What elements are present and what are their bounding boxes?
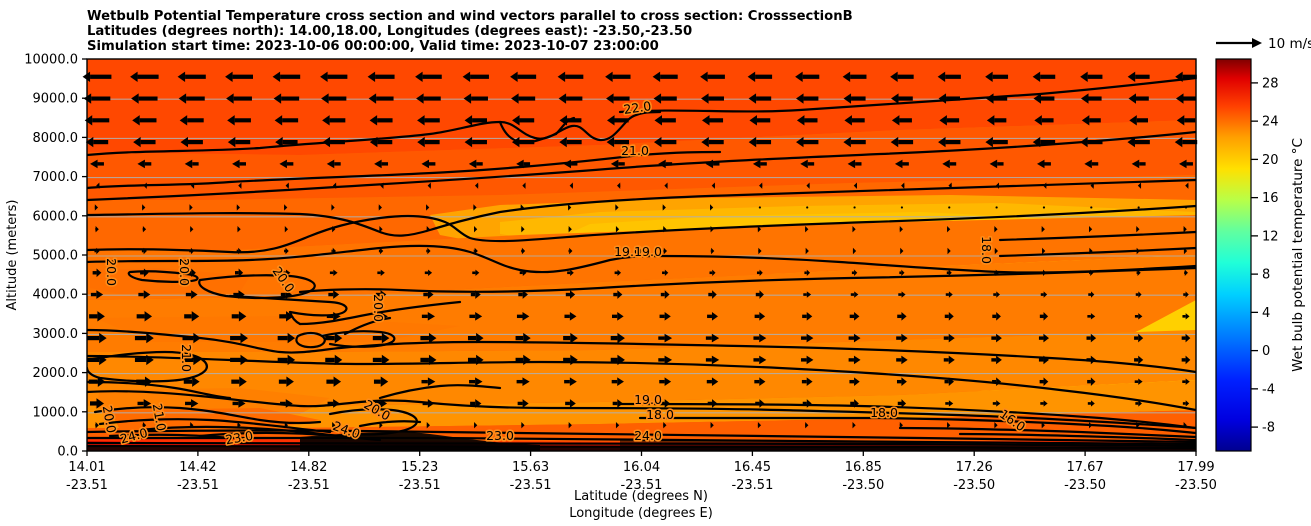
colorbar-tick-label: -8	[1262, 421, 1275, 436]
contour-label: 19.0	[634, 392, 662, 407]
x-tick-label-longitude: -23.51	[288, 478, 330, 493]
quiver-key-label: 10 m/s	[1268, 36, 1311, 52]
x-tick-label-latitude: 16.85	[845, 460, 882, 475]
x-axis-label-longitude: Longitude (degrees E)	[569, 506, 713, 521]
wind-vector-calm	[1185, 206, 1187, 208]
x-tick-label-latitude: 15.63	[512, 460, 549, 475]
wind-vector-calm	[1138, 206, 1140, 208]
y-tick-label: 5000.0	[33, 249, 79, 264]
colorbar-ticks: -8-40481216202428	[1251, 76, 1279, 435]
wind-vector-calm	[901, 206, 903, 208]
wind-vector-calm	[1090, 206, 1092, 208]
x-tick-label-longitude: -23.51	[177, 478, 219, 493]
wind-vector-calm	[996, 206, 998, 208]
x-tick-label-longitude: -23.50	[1175, 478, 1217, 493]
x-tick-label-latitude: 17.67	[1066, 460, 1103, 475]
x-tick-label-longitude: -23.50	[953, 478, 995, 493]
x-tick-label-longitude: -23.51	[510, 478, 552, 493]
x-tick-label-latitude: 16.45	[734, 460, 771, 475]
colorbar-label: Wet bulb potential temperature °C	[1290, 138, 1306, 372]
colorbar-tick-label: 20	[1262, 153, 1279, 168]
wind-vector-calm	[853, 206, 855, 208]
colorbar-tick-label: 16	[1262, 191, 1279, 206]
x-tick-label-latitude: 17.26	[956, 460, 993, 475]
contour-label: 18.0	[646, 407, 674, 422]
colorbar-tick-label: 0	[1262, 344, 1270, 359]
wind-vector-calm	[806, 206, 808, 208]
colorbar[interactable]: -8-40481216202428 Wet bulb potential tem…	[1216, 59, 1306, 451]
x-tick-label-longitude: -23.50	[842, 478, 884, 493]
quiver-key: 10 m/s	[1216, 36, 1311, 52]
x-axis: 14.01-23.5114.42-23.5114.82-23.5115.23-2…	[66, 451, 1217, 493]
contour-label: 21.0	[621, 143, 649, 158]
title-line-3: Simulation start time: 2023-10-06 00:00:…	[87, 39, 659, 54]
x-tick-label-longitude: -23.51	[399, 478, 441, 493]
x-axis-label-latitude: Latitude (degrees N)	[574, 489, 708, 504]
title-block: Wetbulb Potential Temperature cross sect…	[87, 9, 853, 54]
y-axis-label: Altitude (meters)	[5, 200, 20, 311]
wind-vector-calm	[948, 206, 950, 208]
contour-label: 24.0	[634, 428, 662, 443]
y-tick-label: 2000.0	[33, 366, 79, 381]
y-tick-label: 10000.0	[24, 53, 78, 68]
contour-label: 20.0	[177, 258, 192, 286]
wind-vector-calm	[1043, 206, 1045, 208]
plot-area: 22.022.021.021.019.019.019.019.018.018.0…	[83, 59, 1198, 451]
x-tick-label-longitude: -23.51	[66, 478, 108, 493]
y-tick-label: 9000.0	[33, 92, 79, 107]
contour-label: 18.0	[979, 236, 994, 264]
colorbar-tick-label: 8	[1262, 268, 1270, 283]
y-tick-label: 0.0	[57, 445, 78, 460]
y-tick-label: 8000.0	[33, 131, 79, 146]
x-tick-label-latitude: 17.99	[1177, 460, 1214, 475]
title-line-1: Wetbulb Potential Temperature cross sect…	[87, 9, 853, 24]
y-tick-label: 4000.0	[33, 288, 79, 303]
x-tick-label-latitude: 16.04	[623, 460, 660, 475]
colorbar-tick-label: 24	[1262, 115, 1279, 130]
y-tick-label: 1000.0	[33, 405, 79, 420]
colorbar-tick-label: -4	[1262, 382, 1275, 397]
colorbar-tick-label: 4	[1262, 306, 1270, 321]
wind-vector-calm	[759, 206, 761, 208]
title-line-2: Latitudes (degrees north): 14.00,18.00, …	[87, 24, 692, 39]
x-tick-label-latitude: 14.82	[290, 460, 327, 475]
x-tick-label-latitude: 14.42	[179, 460, 216, 475]
x-tick-label-latitude: 15.23	[401, 460, 438, 475]
contour-label: 20.0	[104, 258, 119, 286]
y-axis: 0.01000.02000.03000.04000.05000.06000.07…	[24, 53, 87, 460]
colorbar-tick-label: 12	[1262, 229, 1279, 244]
contour-label: 23.0	[486, 428, 514, 443]
colorbar-gradient[interactable]	[1216, 59, 1251, 451]
y-tick-label: 3000.0	[33, 327, 79, 342]
x-tick-label-longitude: -23.50	[1064, 478, 1106, 493]
y-tick-label: 7000.0	[33, 170, 79, 185]
contour-label: 21.0	[179, 344, 194, 372]
colorbar-tick-label: 28	[1262, 76, 1279, 91]
y-tick-label: 6000.0	[33, 209, 79, 224]
x-tick-label-longitude: -23.51	[731, 478, 773, 493]
figure-canvas: Wetbulb Potential Temperature cross sect…	[0, 0, 1311, 526]
quiver-key-arrowhead-icon	[1252, 38, 1262, 48]
x-tick-label-latitude: 14.01	[68, 460, 105, 475]
contour-label: 20.0	[371, 294, 386, 322]
contour-label: 19.0	[634, 244, 662, 259]
contour-label: 18.0	[870, 405, 898, 420]
